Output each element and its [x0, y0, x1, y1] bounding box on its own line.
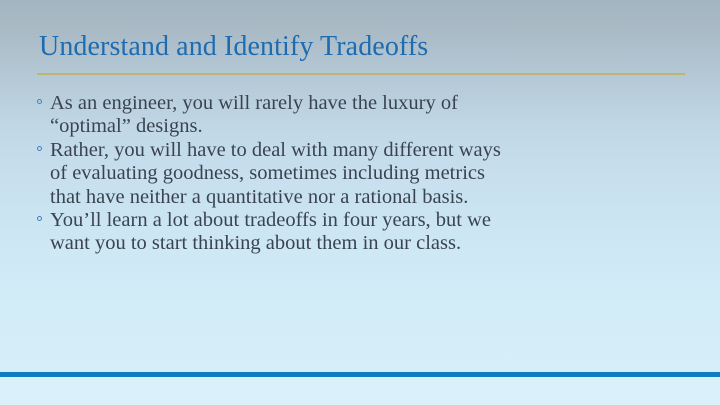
footer: ECE 120: Introduction to Computing © 201…	[0, 377, 720, 405]
list-item-text: As an engineer, you will rarely have the…	[50, 92, 506, 139]
bullet-circle-icon	[37, 146, 42, 151]
list-item: Rather, you will have to deal with many …	[36, 139, 506, 209]
title-divider-rule	[37, 73, 685, 75]
list-item: You’ll learn a lot about tradeoffs in fo…	[36, 209, 506, 256]
list-item-text: You’ll learn a lot about tradeoffs in fo…	[50, 209, 506, 256]
list-item-text: Rather, you will have to deal with many …	[50, 139, 506, 209]
presentation-slide: Understand and Identify Tradeoffs As an …	[0, 0, 720, 405]
bullet-circle-icon	[37, 216, 42, 221]
bullet-list: As an engineer, you will rarely have the…	[36, 92, 506, 256]
page-title: Understand and Identify Tradeoffs	[39, 30, 689, 64]
list-item: As an engineer, you will rarely have the…	[36, 92, 506, 139]
bullet-circle-icon	[37, 99, 42, 104]
